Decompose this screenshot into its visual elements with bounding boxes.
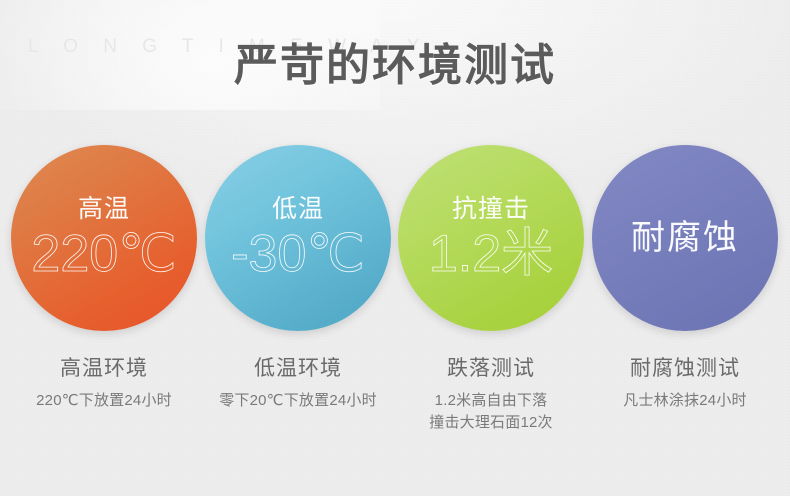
caption-line: 撞击大理石面12次 [386,412,596,434]
promo-page: L O N G T I M E W A Y 严苛的环境测试 高温 220℃ 低温… [0,0,790,496]
badge-label: 抗撞击 [452,197,530,222]
test-badge-impact-resistance: 抗撞击 1.2米 [398,145,584,331]
caption-low-temperature: 低温环境 零下20℃下放置24小时 [193,356,403,412]
test-caption-row: 高温环境 220℃下放置24小时 低温环境 零下20℃下放置24小时 跌落测试 … [0,356,790,476]
caption-line: 1.2米高自由下落 [386,390,596,412]
caption-title: 低温环境 [193,356,403,382]
badge-value: 1.2米 [429,228,553,280]
caption-title: 高温环境 [0,356,209,382]
caption-title: 耐腐蚀测试 [580,356,790,382]
badge-label: 耐腐蚀 [631,221,739,255]
test-badge-high-temperature: 高温 220℃ [11,145,197,331]
caption-impact-resistance: 跌落测试 1.2米高自由下落 撞击大理石面12次 [386,356,596,434]
caption-corrosion-resistance: 耐腐蚀测试 凡士林涂抹24小时 [580,356,790,412]
caption-line: 220℃下放置24小时 [0,390,209,412]
badge-value: 220℃ [31,228,176,280]
caption-high-temperature: 高温环境 220℃下放置24小时 [0,356,209,412]
badge-value: -30℃ [231,228,365,280]
caption-line: 凡士林涂抹24小时 [580,390,790,412]
test-badge-low-temperature: 低温 -30℃ [205,145,391,331]
page-title: 严苛的环境测试 [0,44,790,88]
badge-label: 高温 [78,197,130,222]
caption-title: 跌落测试 [386,356,596,382]
test-badge-row: 高温 220℃ 低温 -30℃ 抗撞击 1.2米 耐腐蚀 [0,145,790,335]
caption-line: 零下20℃下放置24小时 [193,390,403,412]
test-badge-corrosion-resistance: 耐腐蚀 [592,145,778,331]
badge-label: 低温 [272,197,324,222]
